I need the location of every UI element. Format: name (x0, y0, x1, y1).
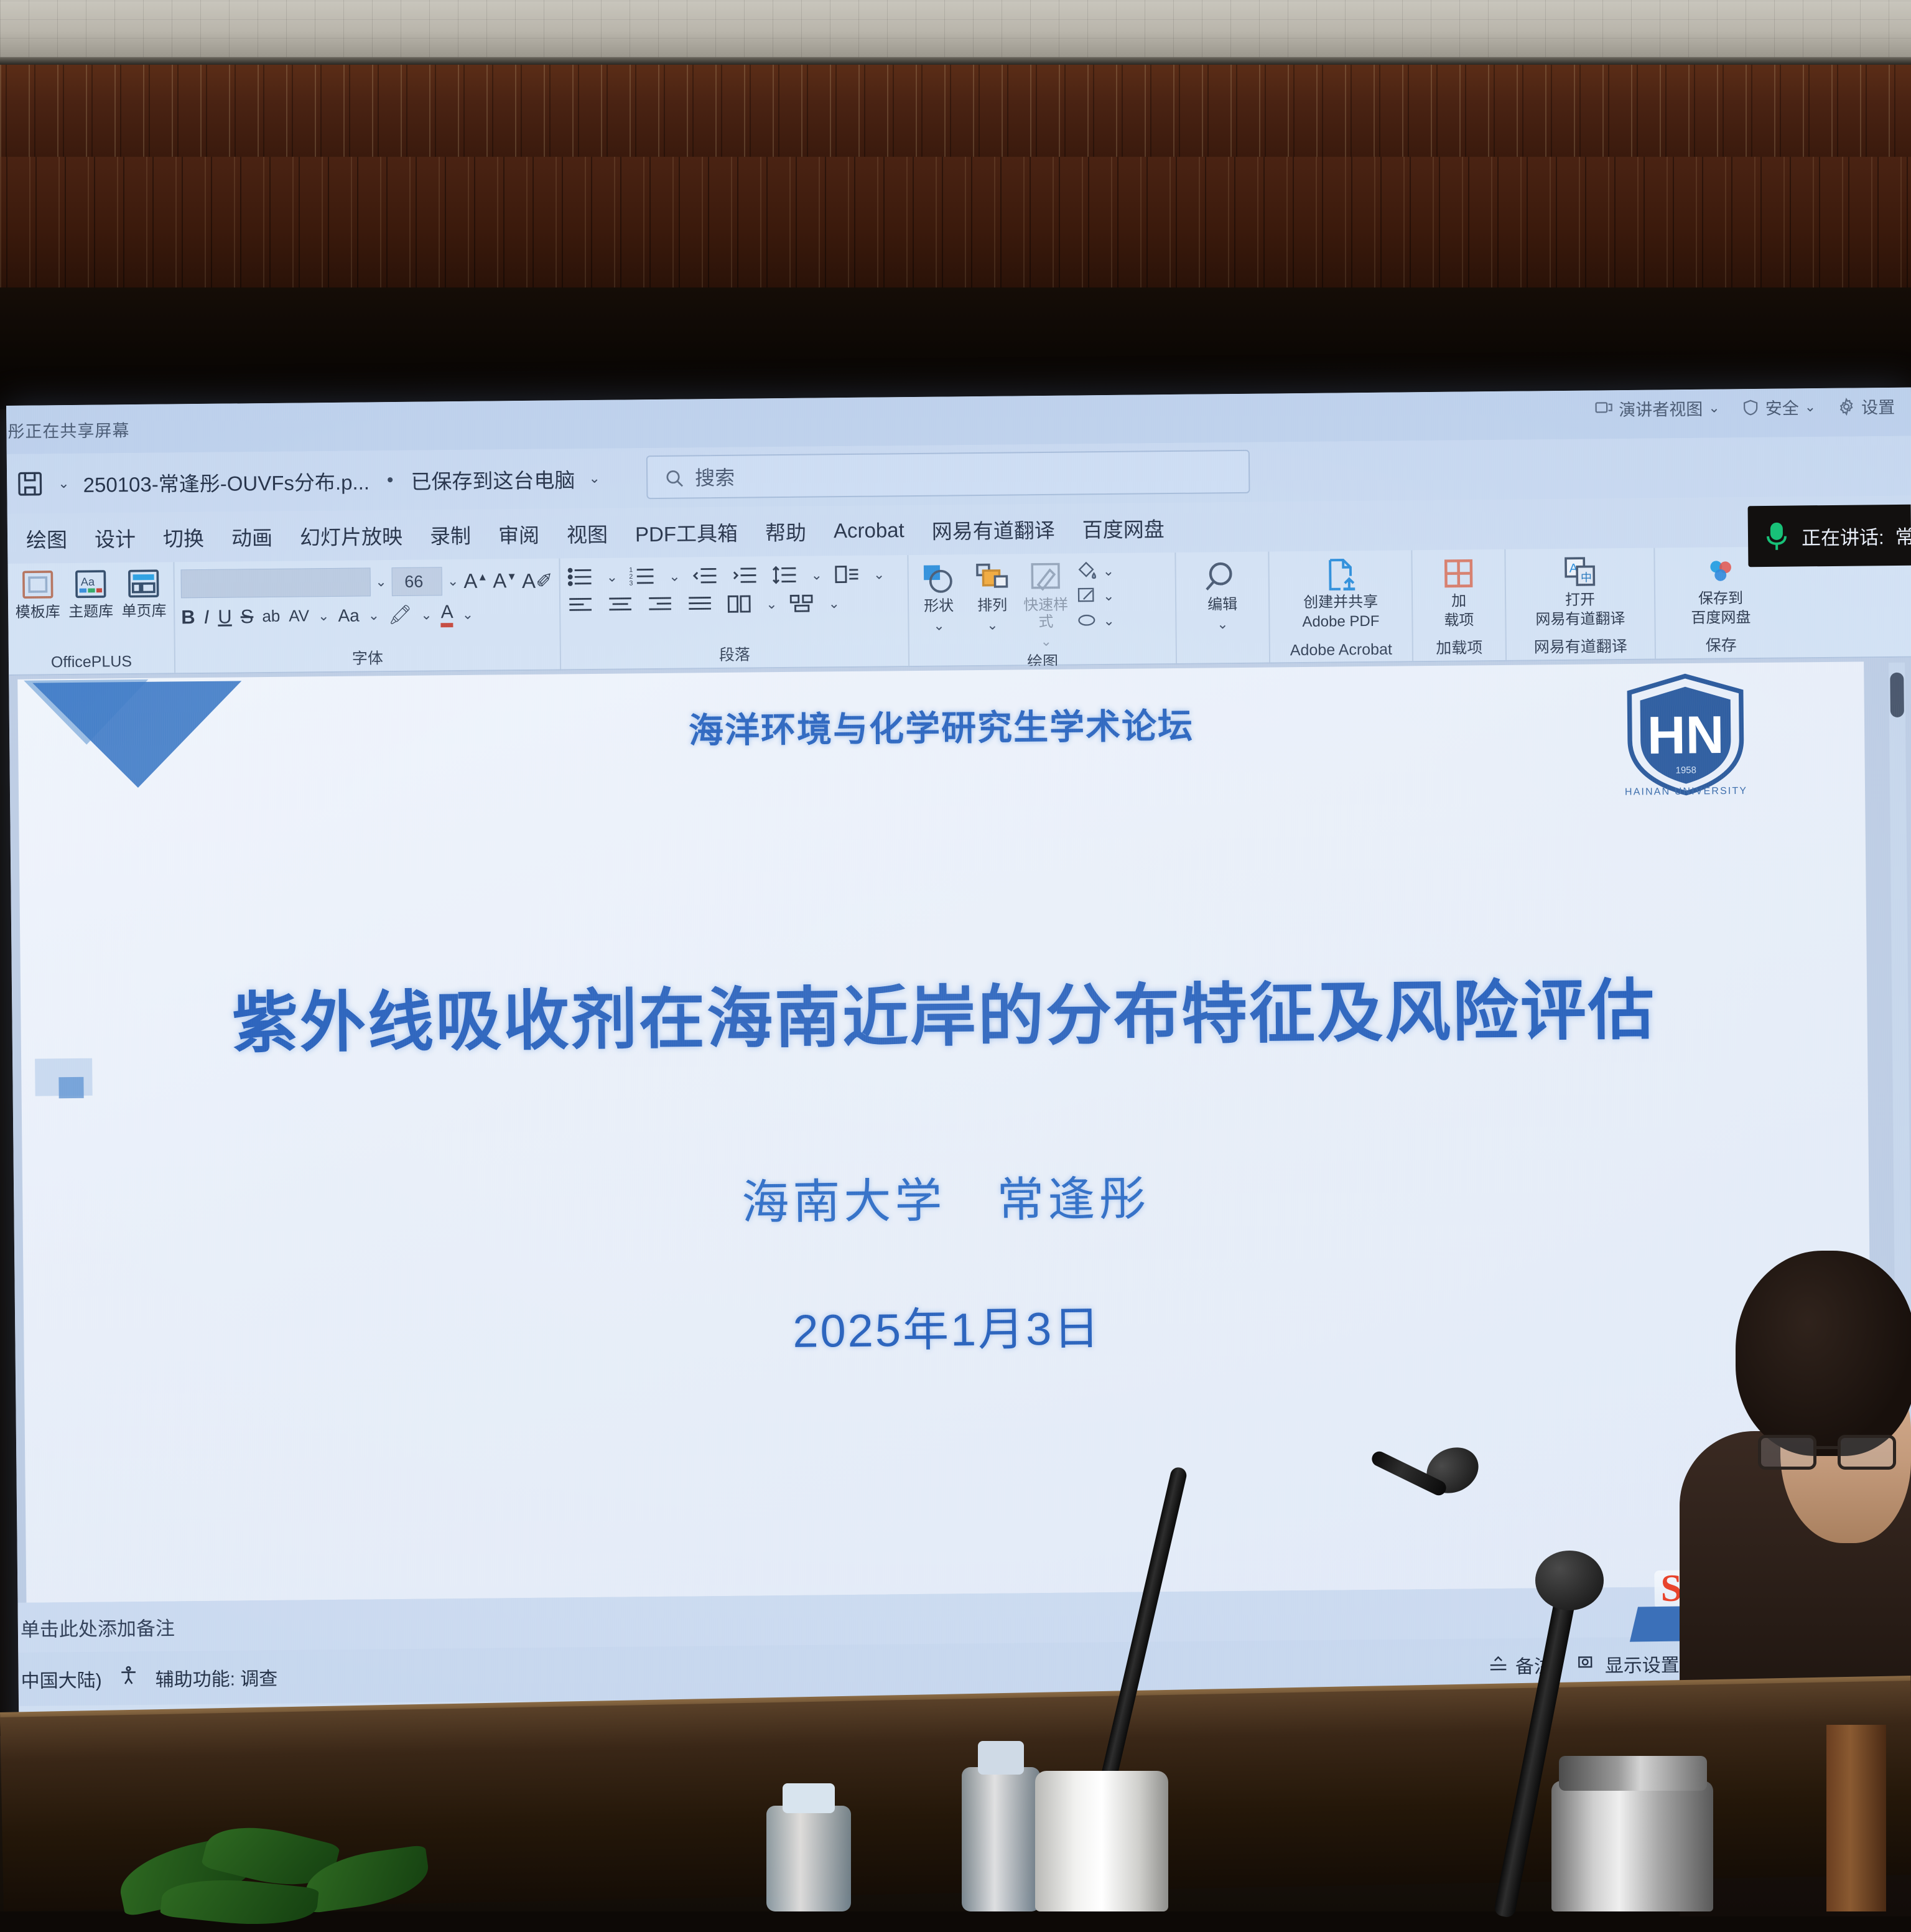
accessibility-icon (118, 1665, 139, 1691)
ribbon: 模板库 Aa 主题库 (7, 546, 1911, 676)
svg-text:3: 3 (630, 580, 633, 587)
bold-button[interactable]: B (181, 606, 195, 628)
font-color-button[interactable]: A (440, 602, 453, 627)
edit-chevron-icon[interactable]: ⌄ (1217, 616, 1229, 632)
slide-title: 紫外线吸收剂在海南近岸的分布特征及风险评估 (21, 954, 1867, 1067)
ribbon-group-addins-label: 加载项 (1420, 635, 1499, 660)
font-color-chevron-icon[interactable]: ⌄ (462, 606, 474, 622)
addins-label-line1: 加 (1451, 593, 1466, 610)
ribbon-group-editing-label (1183, 660, 1263, 662)
addins-button[interactable]: 加 载项 (1434, 556, 1482, 629)
svg-text:HN: HN (1647, 706, 1724, 765)
shape-effects-chevron-icon: ⌄ (1103, 613, 1115, 629)
svg-text:HAINAN UNIVERSITY: HAINAN UNIVERSITY (1625, 786, 1747, 798)
language-label[interactable]: 中国大陆) (21, 1665, 101, 1693)
ribbon-group-youdao: A 中 打开 网易有道翻译 网易有道翻译 (1505, 548, 1656, 660)
notes-toggle-button[interactable]: 备注 (1488, 1651, 1553, 1679)
quick-access-chevron-icon[interactable]: ⌄ (58, 475, 70, 492)
ribbon-group-drawing: 形状 ⌄ 排列 ⌄ (908, 553, 1177, 666)
shield-icon (1741, 398, 1760, 416)
slide-vertical-scrollbar[interactable] (1889, 663, 1911, 1577)
align-center-icon[interactable] (607, 595, 635, 616)
strikethrough-button[interactable]: S (241, 605, 254, 628)
font-format-row: B I U S ab AV ⌄ Aa ⌄ 🖍 ⌄ A ⌄ (181, 601, 553, 630)
text-highlight-icon[interactable]: 🖍 (388, 604, 412, 626)
presenter-view-icon (1594, 399, 1613, 418)
shapes-button[interactable]: 形状 ⌄ (914, 561, 962, 634)
character-spacing-chevron-icon[interactable]: ⌄ (318, 608, 330, 624)
normal-view-button[interactable] (1704, 1651, 1727, 1676)
shape-fill-button[interactable]: ⌄ (1075, 561, 1114, 582)
text-shadow-button[interactable]: ab (262, 607, 280, 626)
bullets-chevron-icon[interactable]: ⌄ (607, 569, 618, 586)
line-spacing-icon[interactable] (771, 565, 799, 586)
sogou-logo-icon: S (1660, 1566, 1682, 1610)
sogou-ime-bar[interactable]: S 中 (1654, 1568, 1842, 1639)
search-input[interactable]: 搜索 (646, 450, 1250, 499)
single-page-library-label: 单页库 (121, 604, 166, 621)
zoom-track[interactable] (1769, 1660, 1887, 1664)
tab-review[interactable]: 审阅 (485, 515, 554, 553)
notes-toggle-label: 备注 (1515, 1651, 1553, 1679)
zoom-out-button[interactable]: − (1752, 1654, 1764, 1671)
slide-forum-header: 海洋环境与化学研究生学术论坛 (18, 691, 1865, 759)
increase-indent-icon[interactable] (731, 565, 760, 586)
wood-wall-lower (0, 157, 1911, 287)
ribbon-group-font: ⌄ 66 ⌄ A▲ A▼ A✐ B I U S ab AV ⌄ Aa ⌄ (174, 558, 561, 673)
security-label: 安全 (1765, 394, 1799, 419)
columns-chevron-icon[interactable]: ⌄ (766, 596, 778, 612)
addins-grid-icon (1439, 556, 1477, 591)
quick-styles-button[interactable]: 快速样式 ⌄ (1021, 560, 1069, 650)
align-right-icon[interactable] (646, 595, 675, 616)
display-settings-button[interactable]: 显示设置 (1578, 1650, 1680, 1678)
tab-acrobat[interactable]: Acrobat (820, 515, 918, 547)
notes-placeholder: 单击此处添加备注 (21, 1612, 175, 1641)
youdao-label-line1: 打开 (1565, 592, 1595, 609)
create-share-adobe-pdf-label-line2: Adobe PDF (1302, 614, 1379, 631)
save-quick-access-icon[interactable] (16, 469, 44, 498)
ribbon-group-officeplus-label: OfficePLUS (15, 653, 168, 673)
justify-icon[interactable] (686, 594, 715, 615)
presenter-view-label: 演讲者视图 (1619, 396, 1703, 421)
security-button[interactable]: 安全 ⌄ (1741, 394, 1816, 419)
edit-magnifier-icon (1203, 559, 1241, 595)
tab-draw[interactable]: 绘图 (12, 520, 81, 558)
slide-canvas-area: 海洋环境与化学研究生学术论坛 HN 1958 HAINAN UNIVERSITY… (9, 658, 1911, 1603)
svg-text:中: 中 (1581, 571, 1592, 584)
edit-button[interactable]: 编辑 ⌄ (1198, 559, 1246, 633)
svg-text:1958: 1958 (1676, 765, 1696, 775)
character-spacing-button[interactable]: AV (289, 606, 309, 625)
font-size-chevron-icon[interactable]: ⌄ (447, 573, 459, 589)
grow-font-button[interactable]: A▲ (463, 569, 488, 593)
ribbon-group-acrobat: 创建并共享 Adobe PDF Adobe Acrobat (1269, 550, 1413, 662)
font-size-input[interactable]: 66 (391, 567, 442, 596)
tab-design[interactable]: 设计 (81, 519, 150, 557)
file-name-label[interactable]: 250103-常逢彤-OUVFs分布.p... (83, 465, 370, 498)
template-library-icon (19, 567, 57, 602)
speaking-indicator-overlay: 正在讲话: 常逢 (1748, 505, 1911, 567)
theme-library-label: 主题库 (68, 604, 113, 621)
microphone-icon (1763, 520, 1790, 553)
projected-powerpoint-screen: 彤正在共享屏幕 演讲者视图 ⌄ 安全 ⌄ (6, 388, 1911, 1742)
accessibility-label[interactable]: 辅助功能: 调查 (155, 1663, 277, 1692)
ime-mode-label[interactable]: 中 (1726, 1570, 1752, 1607)
tab-slideshow[interactable]: 幻灯片放映 (286, 516, 417, 555)
shape-outline-chevron-icon: ⌄ (1103, 588, 1115, 604)
shape-fill-chevron-icon: ⌄ (1103, 563, 1115, 579)
shapes-label: 形状 (924, 598, 954, 615)
youdao-label-line2: 网易有道翻译 (1535, 611, 1625, 628)
chevron-down-icon: ⌄ (1805, 399, 1816, 415)
presenter-view-button[interactable]: 演讲者视图 ⌄ (1594, 396, 1720, 421)
slide-author: 海南大学 常逢彤 (22, 1153, 1869, 1239)
font-name-input[interactable] (181, 567, 371, 598)
ribbon-group-paragraph-label: 段落 (567, 641, 902, 668)
settings-button[interactable]: 设置 (1837, 394, 1895, 419)
ribbon-group-paragraph: ⌄ 1 2 3 ⌄ (560, 555, 909, 669)
create-share-adobe-pdf-label-line1: 创建并共享 (1303, 594, 1378, 612)
quick-styles-icon (1026, 560, 1064, 595)
save-state-label[interactable]: 已保存到这台电脑 (411, 464, 575, 495)
tab-youdao-translate[interactable]: 网易有道翻译 (918, 510, 1069, 549)
addins-label-line2: 载项 (1444, 612, 1474, 629)
search-placeholder: 搜索 (695, 462, 735, 492)
italic-button[interactable]: I (203, 605, 209, 628)
zoom-slider[interactable]: − + (1752, 1653, 1905, 1671)
tab-help[interactable]: 帮助 (751, 512, 821, 550)
align-left-icon[interactable] (567, 595, 595, 617)
highlight-chevron-icon[interactable]: ⌄ (421, 607, 432, 623)
arrange-chevron-icon[interactable]: ⌄ (987, 617, 998, 633)
theme-library-button[interactable]: Aa 主题库 (67, 566, 114, 621)
theme-library-icon: Aa (72, 566, 109, 602)
youdao-translate-icon: A 中 (1561, 554, 1599, 590)
ribbon-group-font-label: 字体 (182, 645, 554, 672)
arrange-button[interactable]: 排列 ⌄ (968, 560, 1016, 633)
bullets-icon[interactable] (567, 567, 595, 588)
numbering-icon[interactable]: 1 2 3 (629, 566, 658, 587)
change-case-chevron-icon[interactable]: ⌄ (368, 607, 380, 623)
arrange-label: 排列 (977, 598, 1007, 615)
shape-effects-button[interactable]: ⌄ (1076, 610, 1115, 632)
hainan-university-logo: HN 1958 HAINAN UNIVERSITY (1618, 670, 1753, 799)
slide-scrollbar-thumb[interactable] (1890, 673, 1904, 717)
speaking-label: 正在讲话: (1802, 521, 1884, 550)
quick-styles-label: 快速样式 (1022, 597, 1070, 631)
arrange-icon (973, 561, 1011, 596)
room-floor-shadow (0, 1736, 1911, 1911)
open-youdao-translate-button[interactable]: A 中 打开 网易有道翻译 (1512, 554, 1648, 629)
slide[interactable]: 海洋环境与化学研究生学术论坛 HN 1958 HAINAN UNIVERSITY… (17, 661, 1872, 1602)
numbering-chevron-icon[interactable]: ⌄ (669, 569, 681, 585)
save-state-chevron-icon[interactable]: ⌄ (588, 470, 600, 487)
change-case-button[interactable]: Aa (338, 605, 360, 625)
chevron-down-icon: ⌄ (1708, 399, 1720, 416)
ime-dot (1789, 1577, 1798, 1586)
smartart-chevron-icon[interactable]: ⌄ (828, 595, 840, 612)
zoom-knob[interactable] (1829, 1655, 1835, 1669)
tab-animations[interactable]: 动画 (218, 518, 287, 556)
shapes-icon (919, 561, 957, 596)
adobe-pdf-icon (1321, 557, 1359, 592)
quick-styles-chevron-icon[interactable]: ⌄ (1040, 633, 1052, 650)
tab-baidu-netdisk[interactable]: 百度网盘 (1068, 509, 1178, 548)
single-page-library-button[interactable]: 单页库 (120, 566, 167, 621)
tab-transitions[interactable]: 切换 (149, 518, 218, 556)
ribbon-group-acrobat-label: Adobe Acrobat (1276, 640, 1406, 661)
ime-bottom-bar (1630, 1604, 1828, 1641)
template-library-button[interactable]: 模板库 (14, 567, 61, 622)
share-banner-label: 彤正在共享屏幕 (6, 417, 129, 442)
convert-smartart-icon[interactable] (788, 594, 817, 615)
ribbon-group-editing: 编辑 ⌄ (1176, 552, 1270, 663)
search-icon (664, 468, 682, 487)
ime-dot (1776, 1577, 1785, 1586)
separator-dot: • (387, 470, 394, 491)
gear-icon (1837, 397, 1856, 416)
ceiling-shadow-band (0, 57, 1911, 65)
ribbon-group-save-label: 保存 (1662, 633, 1780, 658)
slide-date: 2025年1月3日 (24, 1284, 1871, 1368)
baidu-netdisk-icon (1701, 553, 1739, 589)
font-name-chevron-icon[interactable]: ⌄ (375, 574, 387, 590)
clear-formatting-button[interactable]: A✐ (522, 568, 553, 592)
line-spacing-chevron-icon[interactable]: ⌄ (811, 567, 822, 583)
columns-icon[interactable] (726, 594, 755, 615)
display-settings-label: 显示设置 (1605, 1650, 1680, 1678)
svg-text:Aa: Aa (81, 576, 95, 588)
decoration-square-dark (58, 1077, 83, 1098)
single-page-library-icon (125, 566, 163, 602)
text-direction-chevron-icon[interactable]: ⌄ (873, 566, 885, 582)
baidu-netdisk-label-line2: 百度网盘 (1691, 610, 1751, 627)
decrease-indent-icon[interactable] (691, 566, 720, 587)
edit-label: 编辑 (1207, 597, 1237, 614)
share-controls: 演讲者视图 ⌄ 安全 ⌄ 设置 (1594, 394, 1895, 421)
ribbon-group-youdao-label: 网易有道翻译 (1513, 634, 1648, 659)
underline-button[interactable]: U (218, 605, 232, 628)
tab-record[interactable]: 录制 (416, 516, 485, 554)
ceiling-panels (0, 0, 1911, 57)
text-direction-icon[interactable] (834, 564, 862, 586)
status-bar-right: 备注 显示设置 − + (1487, 1635, 1905, 1692)
wood-wall-upper (0, 65, 1911, 157)
zoom-in-button[interactable]: + (1892, 1653, 1905, 1669)
ribbon-group-addins: 加 载项 加载项 (1412, 549, 1507, 661)
ime-status-dots (1776, 1577, 1798, 1586)
tab-pdf-toolbox[interactable]: PDF工具箱 (621, 513, 752, 552)
shapes-chevron-icon[interactable]: ⌄ (933, 617, 945, 633)
create-share-adobe-pdf-button[interactable]: 创建并共享 Adobe PDF (1278, 556, 1403, 631)
tab-view[interactable]: 视图 (553, 515, 622, 553)
ribbon-group-officeplus: 模板库 Aa 主题库 (7, 562, 175, 674)
baidu-netdisk-label-line1: 保存到 (1698, 590, 1743, 608)
settings-label: 设置 (1861, 394, 1895, 419)
shrink-font-button[interactable]: A▼ (493, 569, 517, 592)
speaking-speaker-name: 常逢 (1895, 521, 1911, 549)
template-library-label: 模板库 (16, 604, 60, 622)
shape-outline-button[interactable]: ⌄ (1076, 586, 1115, 607)
